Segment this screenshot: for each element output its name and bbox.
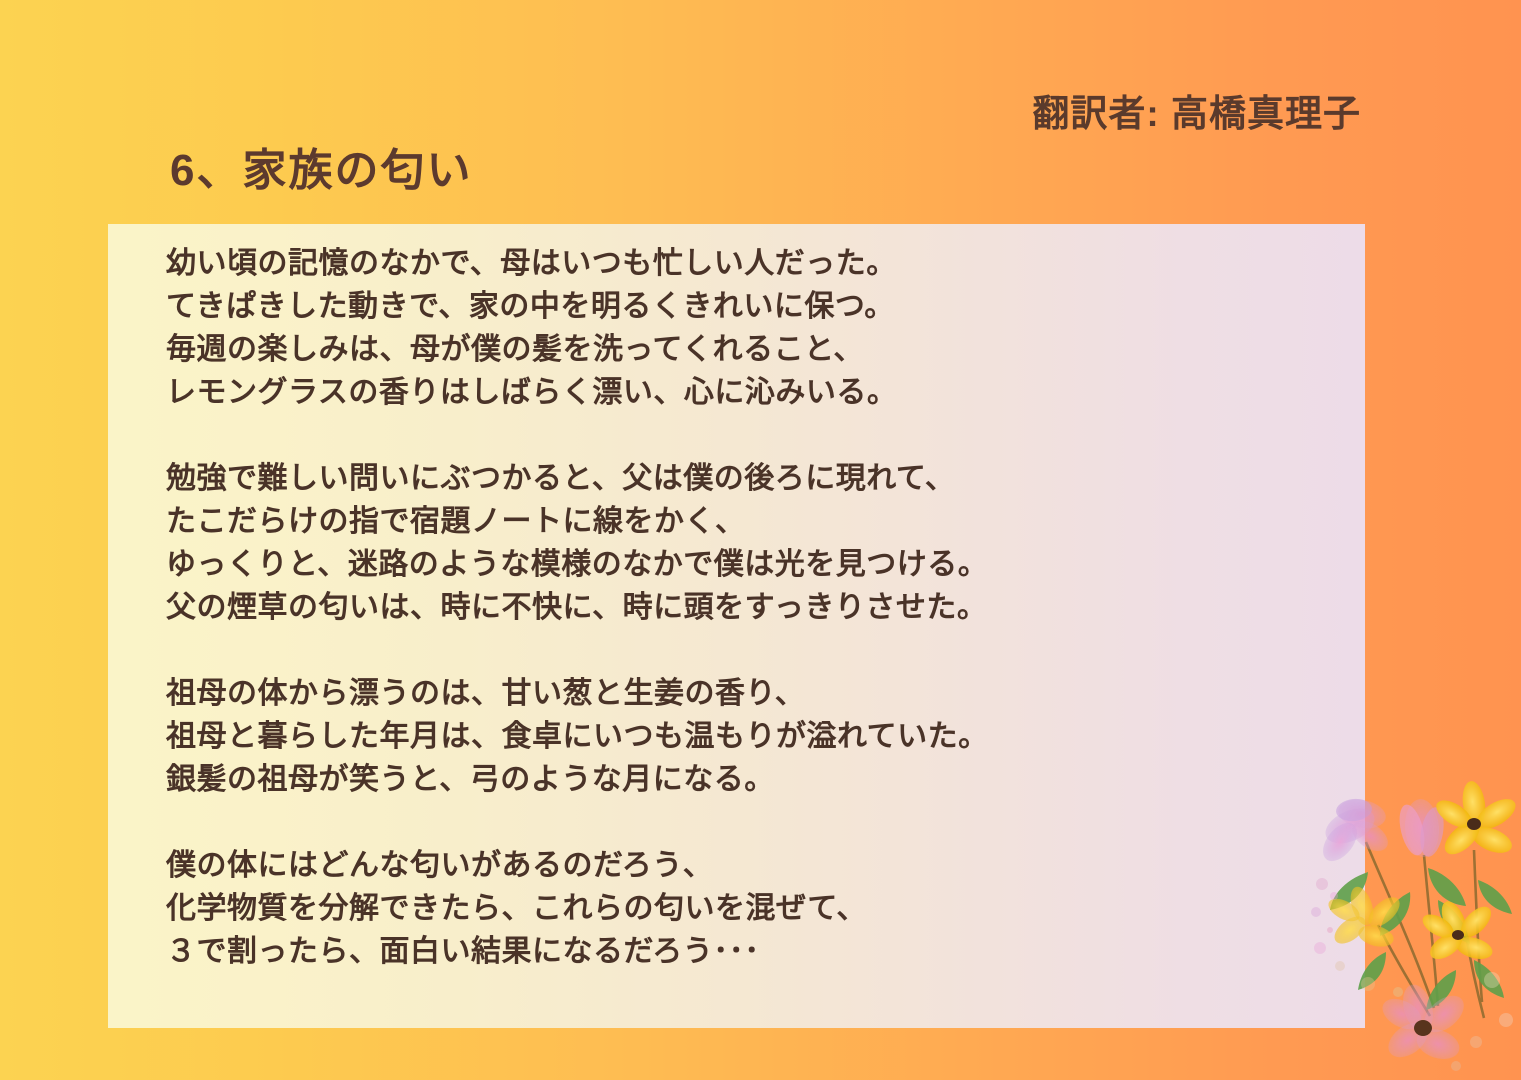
poem-line: レモングラスの香りはしばらく漂い、心に沁みいる。 (166, 371, 1345, 414)
poem-line: 幼い頃の記憶のなかで、母はいつも忙しい人だった。 (166, 242, 1345, 285)
stanza: 幼い頃の記憶のなかで、母はいつも忙しい人だった。 てきぱきした動きで、家の中を明… (166, 242, 1345, 414)
poem-line: 祖母の体から漂うのは、甘い葱と生姜の香り、 (166, 672, 1345, 715)
poem-line: 祖母と暮らした年月は、食卓にいつも温もりが溢れていた。 (166, 715, 1345, 758)
poem-line: 化学物質を分解できたら、これらの匂いを混ぜて、 (166, 887, 1345, 930)
poem-body: 幼い頃の記憶のなかで、母はいつも忙しい人だった。 てきぱきした動きで、家の中を明… (166, 242, 1345, 973)
poem-slide: 翻訳者: 高橋真理子 6、家族の匂い 幼い頃の記憶のなかで、母はいつも忙しい人だ… (0, 0, 1521, 1080)
stanza: 祖母の体から漂うのは、甘い葱と生姜の香り、 祖母と暮らした年月は、食卓にいつも温… (166, 672, 1345, 801)
poem-card: 幼い頃の記憶のなかで、母はいつも忙しい人だった。 てきぱきした動きで、家の中を明… (108, 224, 1365, 1028)
poem-line: 毎週の楽しみは、母が僕の髪を洗ってくれること、 (166, 328, 1345, 371)
page-title: 6、家族の匂い (170, 134, 472, 198)
stanza: 勉強で難しい問いにぶつかると、父は僕の後ろに現れて、 たこだらけの指で宿題ノート… (166, 457, 1345, 629)
poem-line: ゆっくりと、迷路のような模様のなかで僕は光を見つける。 (166, 543, 1345, 586)
poem-line: 僕の体にはどんな匂いがあるのだろう、 (166, 844, 1345, 887)
stanza: 僕の体にはどんな匂いがあるのだろう、 化学物質を分解できたら、これらの匂いを混ぜ… (166, 844, 1345, 973)
translator-credit: 翻訳者: 高橋真理子 (1032, 83, 1361, 137)
poem-line: たこだらけの指で宿題ノートに線をかく、 (166, 500, 1345, 543)
poem-line: 勉強で難しい問いにぶつかると、父は僕の後ろに現れて、 (166, 457, 1345, 500)
poem-line: てきぱきした動きで、家の中を明るくきれいに保つ。 (166, 285, 1345, 328)
poem-line: 父の煙草の匂いは、時に不快に、時に頭をすっきりさせた。 (166, 586, 1345, 629)
poem-line: ３で割ったら、面白い結果になるだろう･･･ (166, 930, 1345, 973)
poem-line: 銀髪の祖母が笑うと、弓のような月になる。 (166, 758, 1345, 801)
